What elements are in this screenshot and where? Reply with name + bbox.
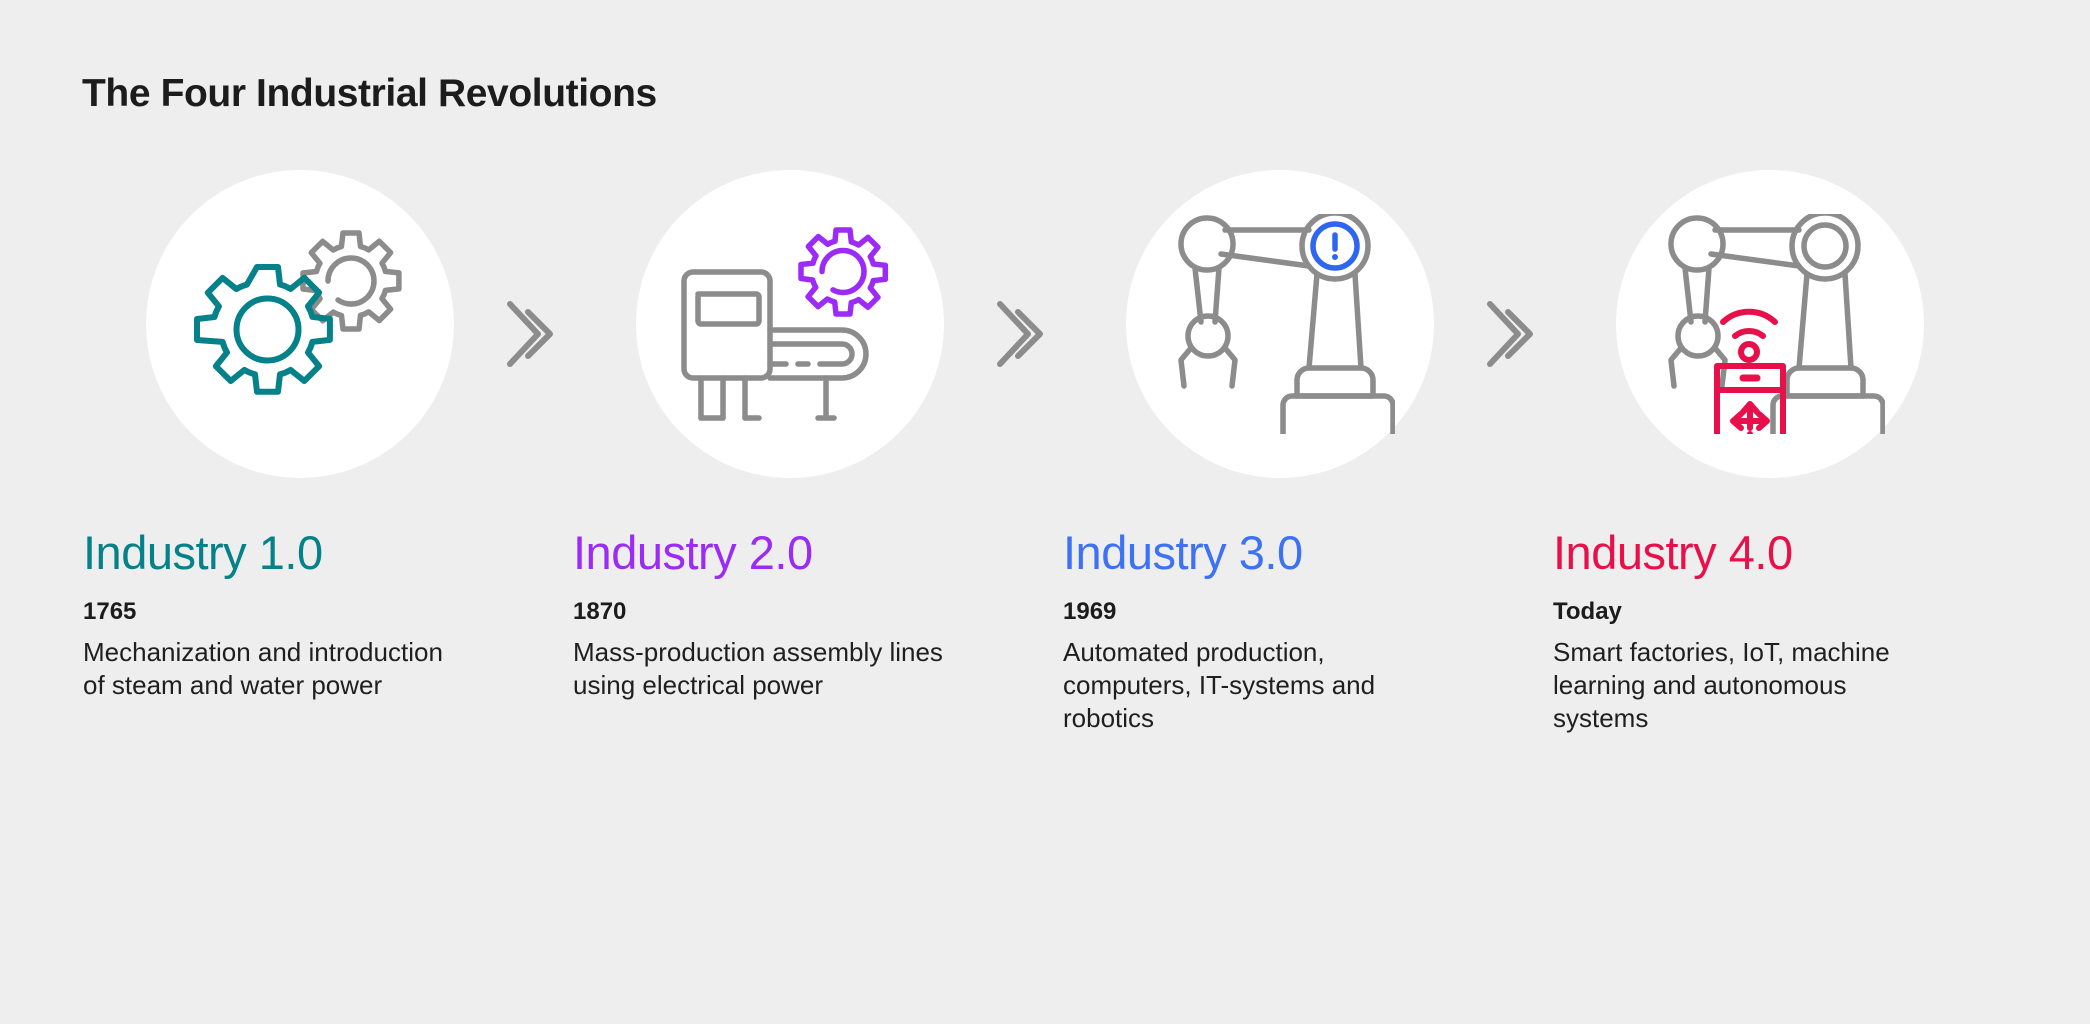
stage-description-industry-4: Smart factories, IoT, machine learning a… xyxy=(1553,636,1933,735)
stage-industry-1: Industry 1.0 1765 Mechanization and intr… xyxy=(55,170,545,870)
stage-industry-4: Industry 4.0 Today Smart factories, IoT,… xyxy=(1525,170,2015,870)
large-gear-teal-icon xyxy=(197,267,330,392)
wifi-icon-red xyxy=(1723,312,1775,336)
stage-industry-2: Industry 2.0 1870 Mass-production assemb… xyxy=(545,170,1035,870)
icon-circle-industry-4 xyxy=(1616,170,1924,478)
alert-indicator-blue-icon xyxy=(1313,224,1357,268)
stage-label-industry-4: Industry 4.0 xyxy=(1553,525,1793,580)
stage-label-industry-3: Industry 3.0 xyxy=(1063,525,1303,580)
stage-label-industry-2: Industry 2.0 xyxy=(573,525,813,580)
icon-circle-industry-3 xyxy=(1126,170,1434,478)
stage-year-industry-4: Today xyxy=(1553,598,1622,626)
stage-label-industry-1: Industry 1.0 xyxy=(83,525,323,580)
gears-icon xyxy=(185,219,415,429)
double-chevron-right-icon xyxy=(500,298,560,370)
stage-description-industry-1: Mechanization and introduction of steam … xyxy=(83,636,463,702)
robot-arm-icon xyxy=(1165,214,1395,434)
gear-purple-icon xyxy=(801,230,885,314)
double-chevron-right-icon xyxy=(990,298,1050,370)
assembly-line-icon xyxy=(670,214,910,434)
icon-circle-industry-2 xyxy=(636,170,944,478)
stage-year-industry-1: 1765 xyxy=(83,598,136,626)
stage-year-industry-2: 1870 xyxy=(573,598,626,626)
stage-description-industry-3: Automated production, computers, IT-syst… xyxy=(1063,636,1443,735)
wifi-dot-icon xyxy=(1741,344,1757,360)
double-chevron-right-icon xyxy=(1480,298,1540,370)
stages-container: Industry 1.0 1765 Mechanization and intr… xyxy=(0,170,2090,870)
machine-body-grey-icon xyxy=(684,272,770,418)
stage-industry-3: Industry 3.0 1969 Automated production, … xyxy=(1035,170,1525,870)
icon-circle-industry-1 xyxy=(146,170,454,478)
page-title: The Four Industrial Revolutions xyxy=(82,72,657,116)
robot-arm-grey-icon xyxy=(1181,214,1393,434)
smart-robot-icon xyxy=(1655,214,1885,434)
stage-year-industry-3: 1969 xyxy=(1063,598,1116,626)
stage-description-industry-2: Mass-production assembly lines using ele… xyxy=(573,636,953,702)
conveyor-belt-grey-icon xyxy=(770,330,866,418)
